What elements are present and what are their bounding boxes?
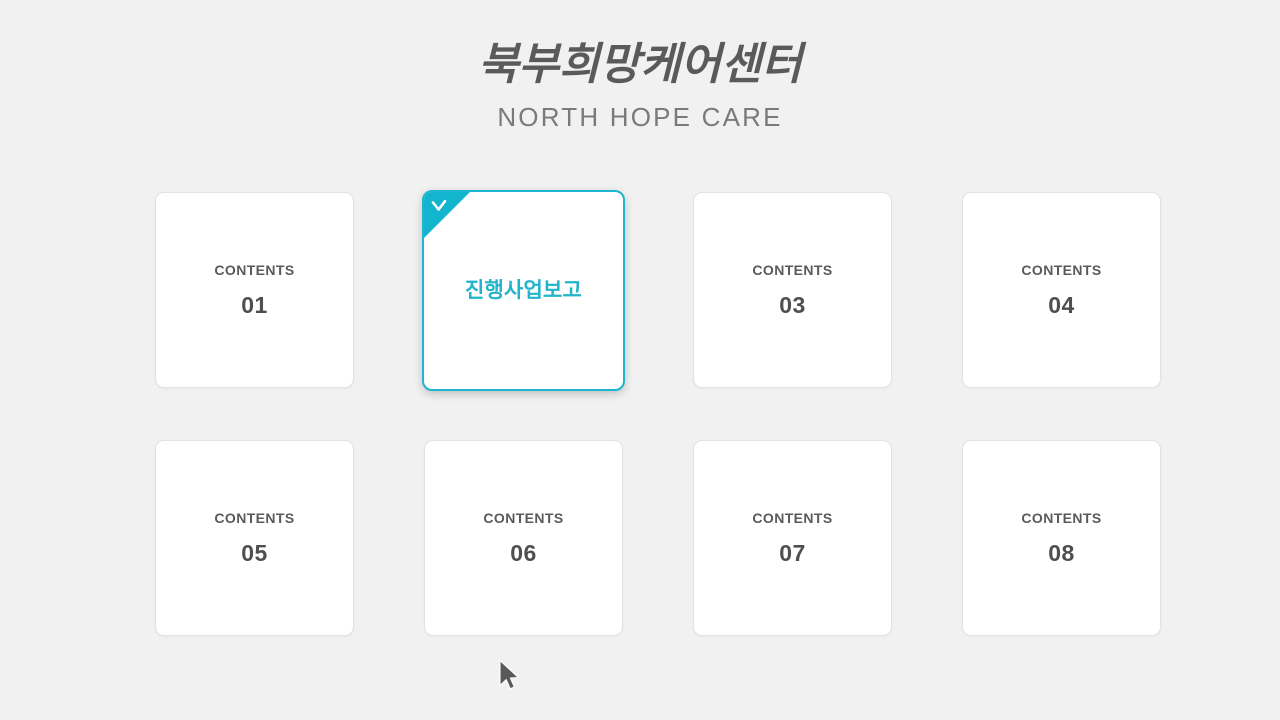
contents-card-05[interactable]: CONTENTS 05 [155,440,354,636]
card-label: CONTENTS [214,509,294,527]
check-icon [429,196,449,216]
card-label: CONTENTS [1021,261,1101,279]
contents-card-08[interactable]: CONTENTS 08 [962,440,1161,636]
card-label: CONTENTS [1021,509,1101,527]
card-number: 08 [1048,540,1075,567]
card-label: CONTENTS [483,509,563,527]
page-title: 북부희망케어센터 [0,36,1280,94]
contents-card-04[interactable]: CONTENTS 04 [962,192,1161,388]
card-label: CONTENTS [752,509,832,527]
card-label: CONTENTS [752,261,832,279]
card-number: 01 [241,292,268,319]
card-number: 06 [510,540,537,567]
contents-card-01[interactable]: CONTENTS 01 [155,192,354,388]
selected-corner-ribbon [424,192,470,238]
contents-card-06[interactable]: CONTENTS 06 [424,440,623,636]
arrow-pointer-icon [498,659,520,692]
card-number: 05 [241,540,268,567]
card-number: 04 [1048,292,1075,319]
card-label: CONTENTS [214,261,294,279]
contents-card-07[interactable]: CONTENTS 07 [693,440,892,636]
contents-card-03[interactable]: CONTENTS 03 [693,192,892,388]
page-header: 북부희망케어센터 NORTH HOPE CARE [0,0,1280,134]
page-subtitle: NORTH HOPE CARE [0,100,1280,134]
contents-card-02-selected[interactable]: 진행사업보고 [422,190,625,391]
card-title: 진행사업보고 [465,277,582,304]
contents-card-grid: CONTENTS 01 진행사업보고 CONTENTS 03 CONTENTS [155,192,1161,636]
card-number: 07 [779,540,806,567]
page-root: 북부희망케어센터 NORTH HOPE CARE CONTENTS 01 진행사… [0,0,1280,720]
card-number: 03 [779,292,806,319]
ribbon-wedge [424,192,470,238]
